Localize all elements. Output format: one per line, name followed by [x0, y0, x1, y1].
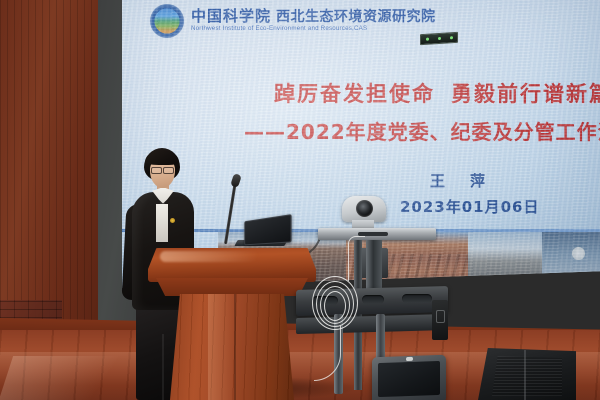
presentation-scene: 中国科学院 西北生态环境资源研究院 Northwest Institute of…	[0, 0, 600, 400]
org-name-en: Northwest Institute of Eco-Environment a…	[191, 26, 436, 32]
speaker-grille	[492, 356, 562, 396]
lectern-edge	[234, 294, 236, 400]
slide-title: 踔厉奋发担使命勇毅前行谱新篇	[274, 78, 600, 108]
slide-header: 中国科学院 西北生态环境资源研究院 Northwest Institute of…	[150, 4, 436, 38]
projector-status-leds	[420, 32, 458, 45]
slide-title-part2: 勇毅前行谱新篇	[451, 82, 600, 106]
lapel-pin-icon	[170, 218, 175, 223]
lectern-top-sheen	[160, 251, 290, 262]
moon-sky-photo	[542, 232, 600, 288]
trolley-slot	[402, 294, 432, 303]
org-name-cn: 中国科学院	[191, 9, 271, 24]
slide-subtitle: ——2022年度党委、纪委及分管工作汇	[244, 116, 600, 145]
eyeglasses-icon	[151, 167, 174, 172]
equipment-box-handle	[436, 310, 445, 323]
equipment-trolley	[318, 196, 448, 400]
org-name-cn-secondary: 西北生态环境资源研究院	[276, 10, 436, 24]
monitor-screen	[378, 361, 440, 397]
institute-logo-icon	[150, 4, 184, 38]
speaker-edge	[524, 350, 526, 400]
monitor-indicator	[406, 357, 413, 361]
confidence-monitor	[372, 355, 446, 400]
camera-lens-icon	[356, 200, 373, 217]
lectern-highlight	[208, 294, 234, 400]
slide-author: 王 萍	[430, 170, 490, 191]
gravel-desert-photo	[468, 232, 542, 288]
slide-title-part1: 踔厉奋发担使命	[274, 82, 435, 106]
wooden-lectern	[148, 248, 316, 400]
wood-panel-wall	[0, 0, 100, 330]
